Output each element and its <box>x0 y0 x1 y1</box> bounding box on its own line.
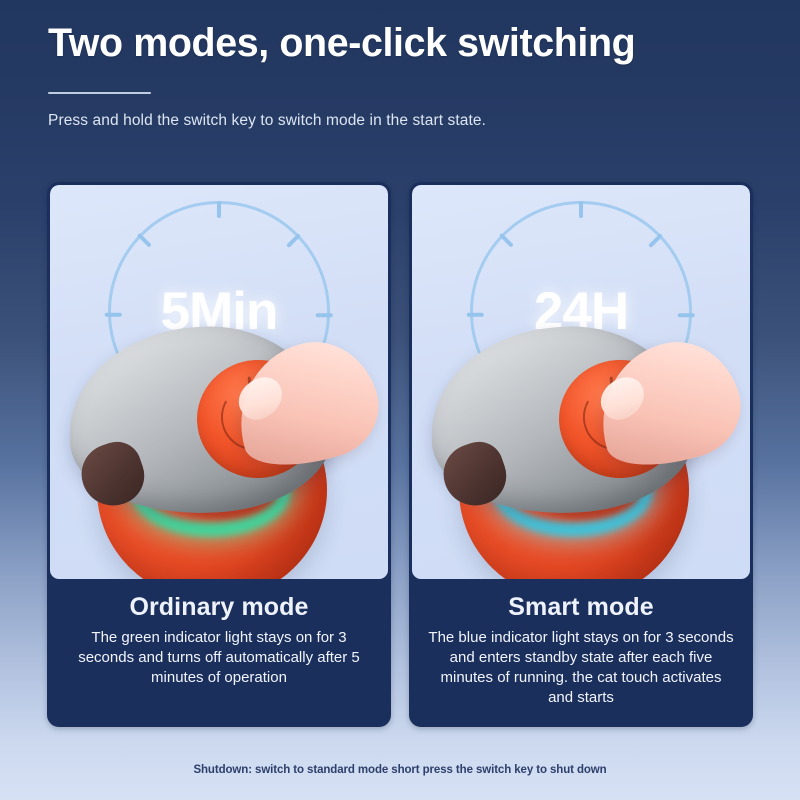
dial-tick <box>648 233 662 247</box>
page-subtitle: Press and hold the switch key to switch … <box>48 112 772 130</box>
mode-caption-smart: Smart mode The blue indicator light stay… <box>412 579 750 724</box>
dial-tick <box>137 233 151 247</box>
mode-card-ordinary[interactable]: 5Min Ordinary mode The green in <box>47 182 391 727</box>
product-photo-ordinary: 5Min <box>50 185 388 579</box>
device-shell-underside <box>435 435 514 514</box>
device-shell-underside <box>73 435 152 514</box>
dial-tick <box>499 233 513 247</box>
dial-tick <box>217 201 221 218</box>
cat-toy-device <box>69 327 369 579</box>
product-photo-smart: 24H <box>412 185 750 579</box>
dial-tick <box>579 201 583 218</box>
cat-toy-device <box>431 327 731 579</box>
footer: Shutdown: switch to standard mode short … <box>0 760 800 779</box>
mode-title: Smart mode <box>422 593 740 621</box>
shutdown-note: Shutdown: switch to standard mode short … <box>193 762 606 779</box>
mode-card-smart[interactable]: 24H Smart mode The blue indicat <box>409 182 753 727</box>
page-title: Two modes, one-click switching <box>48 22 761 64</box>
mode-title: Ordinary mode <box>60 593 378 621</box>
dial-tick <box>286 233 300 247</box>
mode-card-list: 5Min Ordinary mode The green in <box>47 182 753 727</box>
header: Two modes, one-click switching Press and… <box>48 22 772 130</box>
mode-caption-ordinary: Ordinary mode The green indicator light … <box>50 579 388 724</box>
mode-description: The green indicator light stays on for 3… <box>60 628 378 688</box>
title-divider <box>48 92 151 94</box>
mode-description: The blue indicator light stays on for 3 … <box>422 628 740 708</box>
